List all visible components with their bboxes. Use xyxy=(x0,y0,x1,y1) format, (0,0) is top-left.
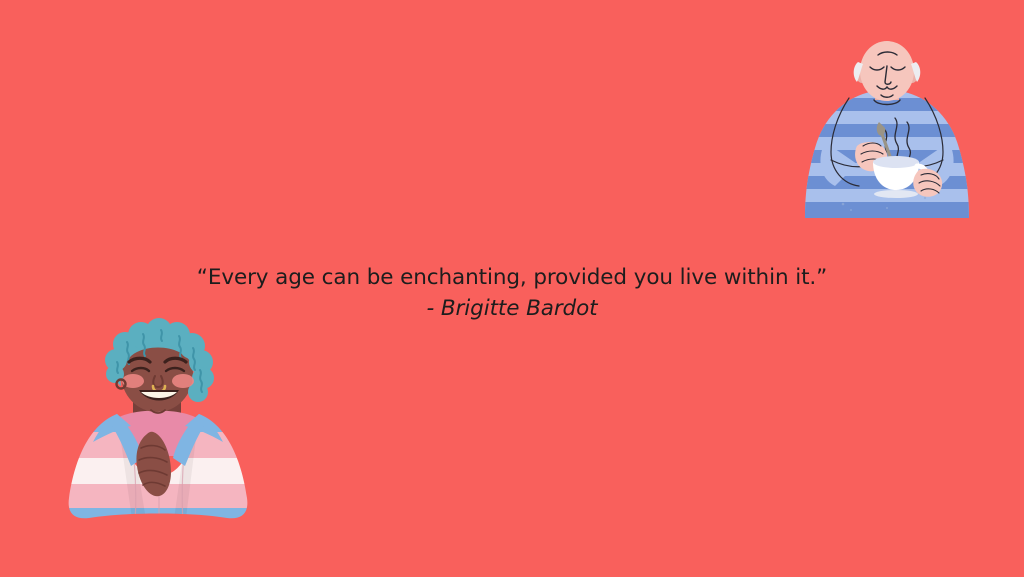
quote-block: “Every age can be enchanting, provided y… xyxy=(0,264,1024,322)
pride-person-svg xyxy=(55,326,260,531)
quote-text: “Every age can be enchanting, provided y… xyxy=(0,264,1024,292)
elderly-man-drinking-tea-illustration xyxy=(795,38,980,228)
quote-attribution: - Brigitte Bardot xyxy=(0,295,1024,323)
elderly-man-svg xyxy=(795,38,980,228)
right-blush xyxy=(172,374,194,388)
slide-canvas: “Every age can be enchanting, provided y… xyxy=(0,0,1024,577)
person-wrapped-in-transgender-pride-flag-illustration xyxy=(55,326,260,531)
